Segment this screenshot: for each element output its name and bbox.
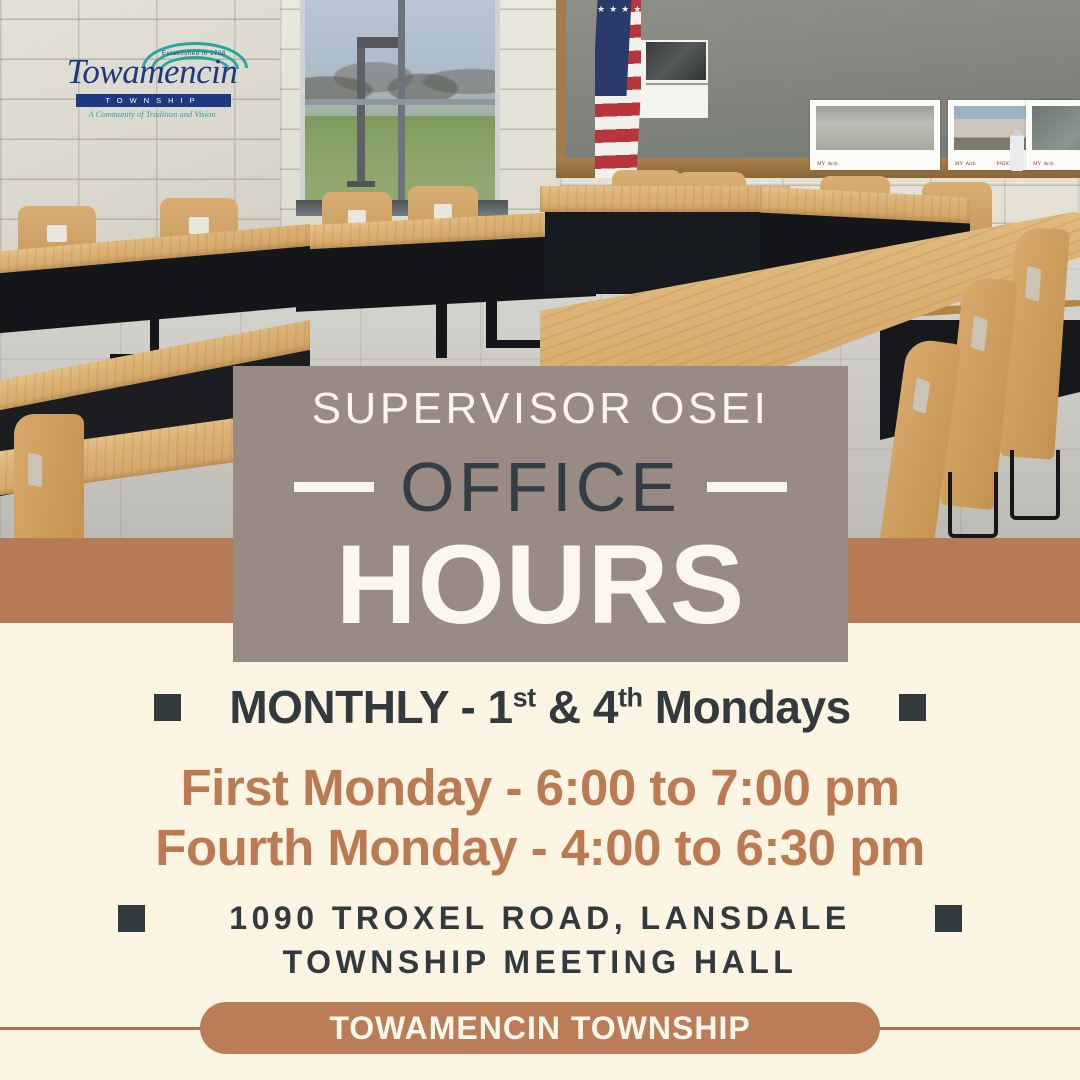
township-pill-label: TOWAMENCIN TOWNSHIP xyxy=(329,1010,750,1047)
logo-tagline: A Community of Tradition and Vision xyxy=(56,109,248,119)
table-top xyxy=(540,186,790,212)
chair-legs xyxy=(1010,450,1060,520)
architectural-rendering-aerial: MY Arch xyxy=(810,100,940,170)
architectural-rendering-site-plan: MY Arch xyxy=(1026,100,1080,170)
rendering-caption: MY Arch PNDC xyxy=(955,162,1010,167)
square-bullet-address-right xyxy=(935,905,962,932)
square-bullet-right xyxy=(899,694,926,721)
rendering-caption: MY Arch xyxy=(817,162,838,167)
frequency-sup-fourth: th xyxy=(618,683,642,713)
square-bullet-address-left xyxy=(118,905,145,932)
flag-stars: ★★★★★★★★★★★★★★★★★★★★★★★★★★★★★★★★★★ xyxy=(597,4,627,92)
township-logo: Established in 1728 Towamencin TOWNSHIP … xyxy=(56,36,248,118)
chair-foreground xyxy=(14,414,84,540)
hours-word: HOURS xyxy=(233,526,848,644)
office-row: OFFICE xyxy=(233,450,848,524)
light-pole xyxy=(357,39,365,184)
frequency-mid: & 4 xyxy=(536,681,618,733)
logo-wordmark: Towamencin xyxy=(56,52,248,92)
dash-right-decoration xyxy=(707,482,787,492)
office-hours-card: SUPERVISOR OSEI OFFICE HOURS xyxy=(233,366,848,662)
supervisor-title: SUPERVISOR OSEI xyxy=(233,384,848,434)
rendering-caption: MY Arch xyxy=(1033,162,1054,167)
wood-grain xyxy=(540,186,790,212)
posted-paper-image xyxy=(646,42,706,80)
table-leg xyxy=(436,288,447,358)
window-mullion-horizontal xyxy=(305,99,495,105)
first-monday-hours: First Monday - 6:00 to 7:00 pm xyxy=(0,758,1080,817)
footer: TOWAMENCIN TOWNSHIP xyxy=(0,1002,1080,1054)
dash-left-decoration xyxy=(294,482,374,492)
frequency-prefix: MONTHLY - 1 xyxy=(229,681,512,733)
posted-paper-rule xyxy=(646,83,708,85)
logo-township-bar: TOWNSHIP xyxy=(76,94,231,107)
frequency-text: MONTHLY - 1st & 4th Mondays xyxy=(229,680,850,734)
rendering-image xyxy=(816,106,934,150)
american-flag: ★★★★★★★★★★★★★★★★★★★★★★★★★★★★★★★★★★ xyxy=(595,0,641,178)
table-leg xyxy=(486,290,497,346)
frequency-row: MONTHLY - 1st & 4th Mondays xyxy=(0,676,1080,738)
township-pill-badge: TOWAMENCIN TOWNSHIP xyxy=(200,1002,880,1054)
rendering-image xyxy=(1032,106,1080,150)
address-row: 1090 TROXEL ROAD, LANSDALE xyxy=(0,896,1080,940)
light-pole-base xyxy=(347,181,375,187)
square-bullet-left xyxy=(154,694,181,721)
conference-table-middle xyxy=(540,186,790,212)
chair-legs xyxy=(948,472,998,538)
fourth-monday-hours: Fourth Monday - 4:00 to 6:30 pm xyxy=(0,818,1080,877)
window xyxy=(300,0,500,206)
hand-sanitizer-bottle xyxy=(1010,135,1024,171)
venue-line: TOWNSHIP MEETING HALL xyxy=(0,944,1080,981)
address-line: 1090 TROXEL ROAD, LANSDALE xyxy=(229,900,850,937)
frequency-suffix: Mondays xyxy=(643,681,851,733)
frequency-sup-first: st xyxy=(513,683,536,713)
poster-canvas: ★★★★★★★★★★★★★★★★★★★★★★★★★★★★★★★★★★ MY Ar… xyxy=(0,0,1080,1080)
office-word: OFFICE xyxy=(400,452,681,522)
